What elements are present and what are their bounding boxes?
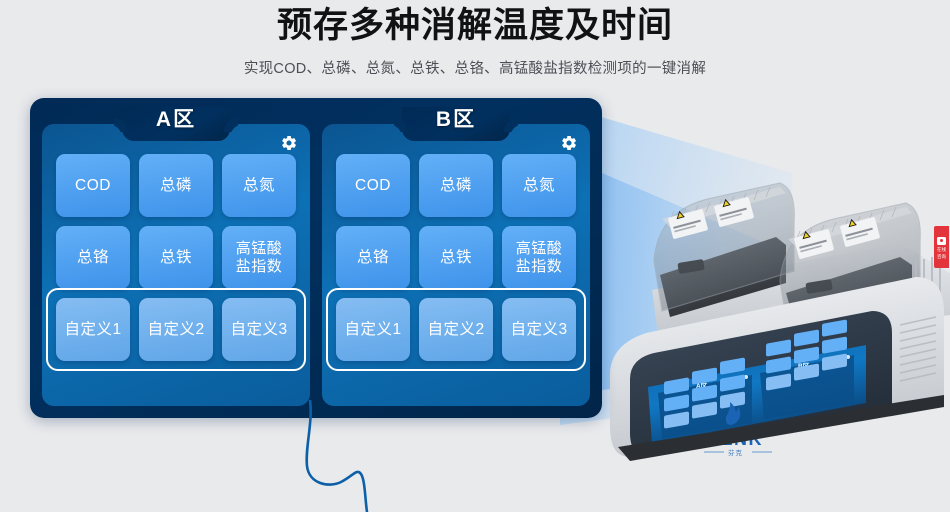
zone-b-tile-grid: COD 总磷 总氮 总铬 总铁 高锰酸 盐指数 自定义1 自定义2 自定义3 <box>336 154 576 361</box>
tile-custom-3[interactable]: 自定义3 <box>502 298 576 361</box>
tile-total-chromium[interactable]: 总铬 <box>336 226 410 289</box>
zone-a-tile-grid: COD 总磷 总氮 总铬 总铁 高锰酸 盐指数 自定义1 自定义2 自定义3 <box>56 154 296 361</box>
instrument-photo: A区 B区 <box>600 165 950 465</box>
zone-b-title-notch: B区 <box>402 107 510 141</box>
tile-total-phosphorus[interactable]: 总磷 <box>139 154 213 217</box>
page-subtitle: 实现COD、总磷、总氮、总铁、总铬、高锰酸盐指数检测项的一键消解 <box>0 57 950 78</box>
tile-custom-1[interactable]: 自定义1 <box>56 298 130 361</box>
zone-a-settings-gear-icon[interactable] <box>280 134 298 152</box>
svg-text:芬克: 芬克 <box>728 448 743 457</box>
tile-total-iron[interactable]: 总铁 <box>419 226 493 289</box>
zone-b: B区 COD 总磷 总氮 总铬 总铁 高锰酸 盐指数 自定义1 自定义2 自定义… <box>322 124 590 406</box>
tile-cod[interactable]: COD <box>336 154 410 217</box>
tile-custom-2[interactable]: 自定义2 <box>419 298 493 361</box>
badge-line-1: 在线 <box>937 247 946 252</box>
tile-custom-3[interactable]: 自定义3 <box>222 298 296 361</box>
tile-permanganate-index[interactable]: 高锰酸 盐指数 <box>502 226 576 289</box>
tile-permanganate-index[interactable]: 高锰酸 盐指数 <box>222 226 296 289</box>
online-consult-badge[interactable]: 在线 咨询 <box>934 226 949 268</box>
zone-a: A区 COD 总磷 总氮 总铬 总铁 高锰酸 盐指数 自定义1 自定义2 自定义… <box>42 124 310 406</box>
tile-total-iron[interactable]: 总铁 <box>139 226 213 289</box>
control-panel: A区 COD 总磷 总氮 总铬 总铁 高锰酸 盐指数 自定义1 自定义2 自定义… <box>30 98 602 418</box>
zone-a-title: A区 <box>156 107 196 133</box>
tile-total-nitrogen[interactable]: 总氮 <box>222 154 296 217</box>
instrument-illustration: A区 B区 <box>600 165 950 465</box>
zone-b-title: B区 <box>436 107 476 133</box>
tile-custom-1[interactable]: 自定义1 <box>336 298 410 361</box>
chat-icon <box>937 237 946 245</box>
tile-cod[interactable]: COD <box>56 154 130 217</box>
tile-total-phosphorus[interactable]: 总磷 <box>419 154 493 217</box>
tile-total-chromium[interactable]: 总铬 <box>56 226 130 289</box>
tile-custom-2[interactable]: 自定义2 <box>139 298 213 361</box>
page-title: 预存多种消解温度及时间 <box>0 4 950 48</box>
tile-total-nitrogen[interactable]: 总氮 <box>502 154 576 217</box>
zone-b-settings-gear-icon[interactable] <box>560 134 578 152</box>
badge-line-2: 咨询 <box>937 254 946 259</box>
zone-a-title-notch: A区 <box>122 107 230 141</box>
